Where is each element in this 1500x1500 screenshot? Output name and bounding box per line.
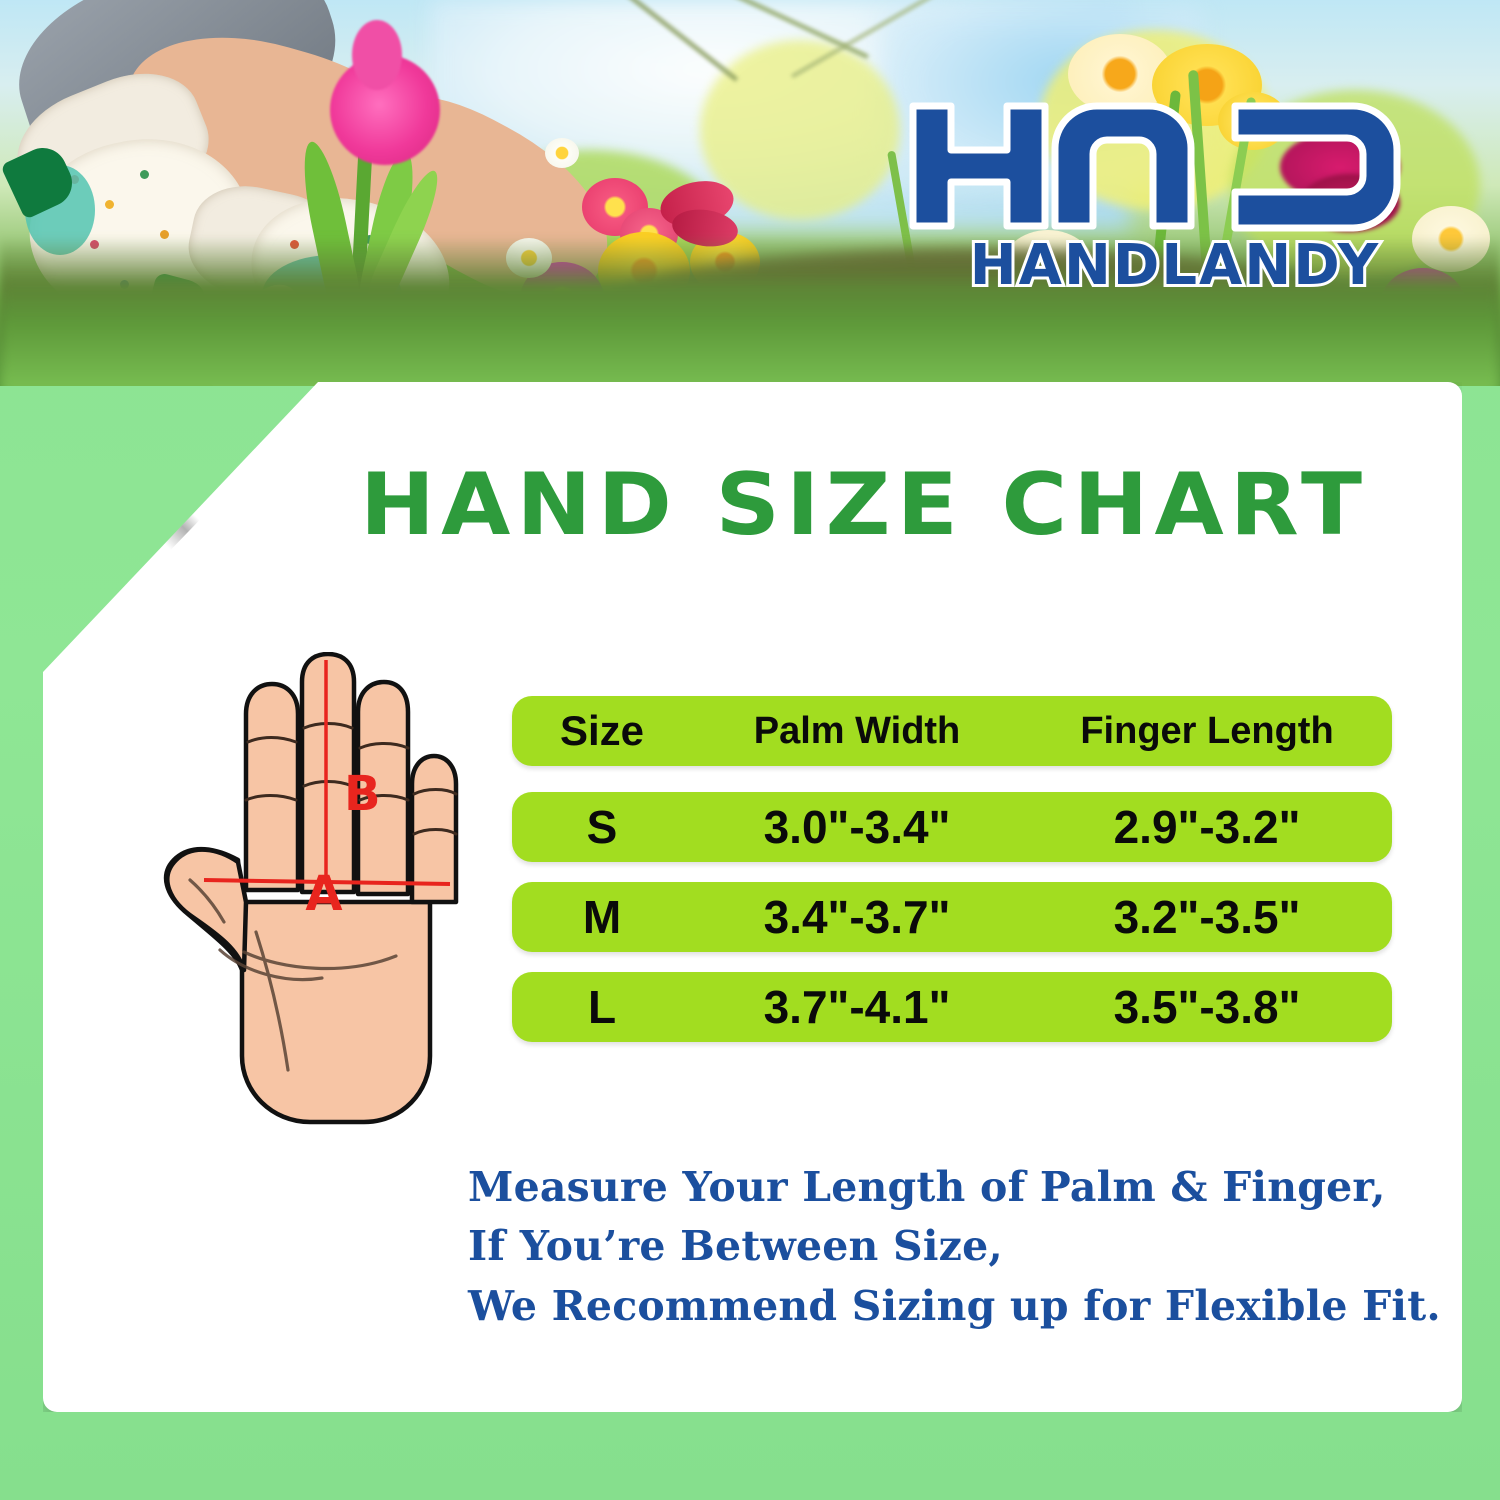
logo-mark-hnd	[913, 106, 1397, 228]
sizing-note: Measure Your Length of Palm & Finger, If…	[468, 1158, 1418, 1336]
glove-dot	[105, 200, 114, 209]
poster-root: HANDLANDY HAND SIZE CHART	[0, 0, 1500, 1500]
table-row: L 3.7"-4.1" 3.5"-3.8"	[512, 972, 1392, 1042]
cell-size: S	[512, 800, 692, 854]
header-size: Size	[512, 707, 692, 755]
table-header-row: Size Palm Width Finger Length	[512, 696, 1392, 766]
page-title: HAND SIZE CHART	[360, 462, 1473, 548]
sizing-note-line-1: Measure Your Length of Palm & Finger,	[468, 1158, 1418, 1217]
cell-finger-length: 2.9"-3.2"	[1022, 800, 1392, 854]
cell-palm-width: 3.0"-3.4"	[692, 800, 1022, 854]
measure-label-a: A	[305, 866, 342, 922]
cell-finger-length: 3.2"-3.5"	[1022, 890, 1392, 944]
glove-dot	[140, 170, 149, 179]
hyacinth-bloom	[352, 20, 402, 90]
cell-size: L	[512, 980, 692, 1034]
header-finger-length: Finger Length	[1022, 710, 1392, 753]
table-row: M 3.4"-3.7" 3.2"-3.5"	[512, 882, 1392, 952]
handlandy-logo: HANDLANDY	[905, 88, 1445, 293]
cell-finger-length: 3.5"-3.8"	[1022, 980, 1392, 1034]
header-palm-width: Palm Width	[692, 710, 1022, 753]
cell-palm-width: 3.7"-4.1"	[692, 980, 1022, 1034]
cell-palm-width: 3.4"-3.7"	[692, 890, 1022, 944]
hand-svg: A B	[96, 652, 496, 1142]
sizing-note-line-3: We Recommend Sizing up for Flexible Fit.	[468, 1277, 1418, 1336]
logo-wordmark: HANDLANDY	[970, 233, 1380, 293]
sizing-note-line-2: If You’re Between Size,	[468, 1217, 1418, 1276]
logo-svg: HANDLANDY	[905, 88, 1445, 293]
measure-label-b: B	[344, 766, 381, 822]
size-table: Size Palm Width Finger Length S 3.0"-3.4…	[512, 696, 1392, 1062]
hand-measure-diagram: A B	[96, 652, 496, 1142]
table-row: S 3.0"-3.4" 2.9"-3.2"	[512, 792, 1392, 862]
cell-size: M	[512, 890, 692, 944]
daisy-white	[545, 138, 579, 168]
